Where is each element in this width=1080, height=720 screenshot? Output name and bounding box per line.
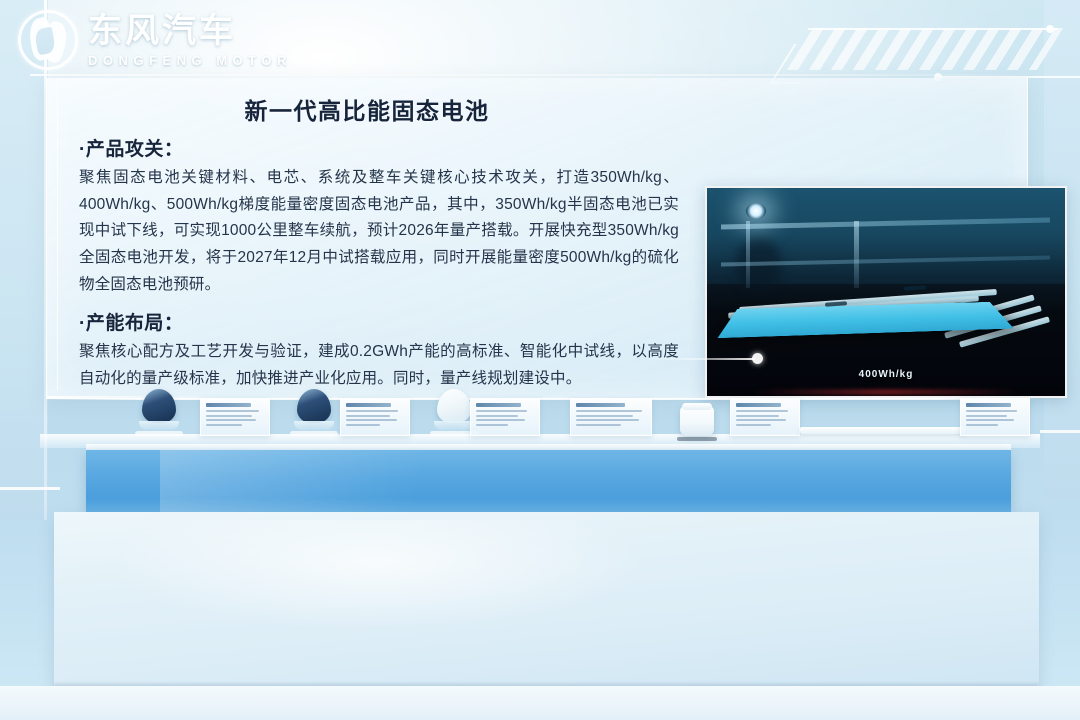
- photo-content: 400Wh/kg: [707, 188, 1065, 396]
- decorative-stripes-graphic: [787, 28, 1063, 70]
- page-title: 新一代高比能固态电池: [47, 92, 1027, 126]
- section-heading-capacity: ·产能布局：: [79, 308, 679, 335]
- counter-blue-band: [86, 450, 1011, 512]
- circuit-dot-graphic: [752, 353, 763, 364]
- photo-cell-tab-2: [904, 285, 926, 291]
- white-bar-sample: [800, 427, 965, 434]
- header-hairline: [30, 74, 1060, 76]
- photo-top-cell-sheet: [718, 302, 1015, 338]
- exhibit-scene: 东风汽车 DONGFENG MOTOR 新一代高比能固态电池 ·产品攻关： 聚焦…: [0, 0, 1080, 720]
- floor: [0, 686, 1080, 720]
- page-title-text: 新一代高比能固态电池: [245, 92, 490, 126]
- label-card-5: [730, 398, 800, 436]
- circuit-line-graphic: [640, 358, 755, 360]
- solid-state-battery-cell-stack-photo: 400Wh/kg: [705, 186, 1067, 398]
- decorative-line-top: [808, 28, 1058, 30]
- brand-logo: 东风汽车 DONGFENG MOTOR: [18, 10, 292, 70]
- brand-logo-text: 东风汽车 DONGFENG MOTOR: [88, 14, 292, 67]
- label-card-3: [470, 398, 540, 436]
- photo-post-mid: [854, 221, 859, 288]
- dongfeng-whirlwind-logo-icon: [18, 10, 78, 70]
- brand-name-en: DONGFENG MOTOR: [88, 54, 292, 67]
- photo-caption: 400Wh/kg: [707, 369, 1065, 380]
- brand-name-cn: 东风汽车: [88, 14, 292, 48]
- section-body-product: 聚焦固态电池关键材料、电芯、系统及整车关键核心技术攻关，打造350Wh/kg、4…: [79, 165, 679, 298]
- dark-blue-powder-sample-2: [290, 389, 338, 436]
- exhibit-shelf: [40, 396, 1040, 448]
- section-heading-product: ·产品攻关：: [79, 134, 679, 161]
- left-trim-line: [0, 487, 60, 490]
- white-jar-sample: [680, 406, 714, 436]
- information-panel: 新一代高比能固态电池 ·产品攻关： 聚焦固态电池关键材料、电芯、系统及整车关键核…: [46, 78, 1028, 399]
- label-card-2: [340, 398, 410, 436]
- counter-body-highlight: [120, 520, 760, 660]
- photo-lamp: [746, 203, 766, 219]
- label-card-1: [200, 398, 270, 436]
- photo-post-left: [746, 221, 750, 288]
- counter-sheen: [160, 450, 530, 512]
- photo-base-glow: [750, 390, 1022, 394]
- label-card-4: [570, 398, 652, 436]
- shelf-highlight-line: [40, 398, 1040, 400]
- right-trim-line: [1040, 430, 1080, 433]
- panel-copy: ·产品攻关： 聚焦固态电池关键材料、电芯、系统及整车关键核心技术攻关，打造350…: [79, 134, 679, 393]
- label-card-6: [960, 398, 1030, 436]
- dark-blue-powder-sample-1: [135, 389, 183, 436]
- decorative-dot-top: [1046, 25, 1054, 33]
- section-body-capacity: 聚焦核心配方及工艺开发与验证，建成0.2GWh产能的高标准、智能化中试线，以高度…: [79, 339, 679, 392]
